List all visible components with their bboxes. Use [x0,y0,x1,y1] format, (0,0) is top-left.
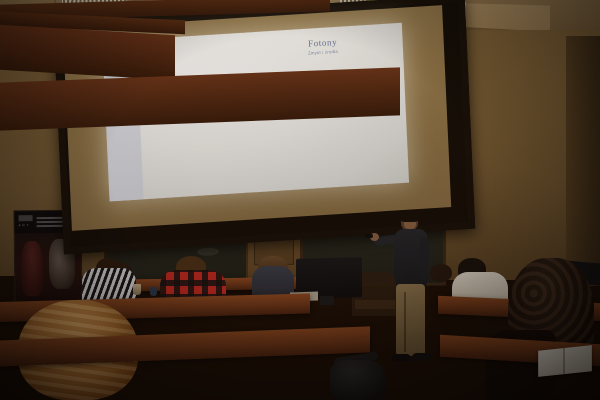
poster-logo-icon [19,215,33,221]
presenter-legs [396,284,425,356]
monitor-stand [320,296,334,305]
poster-figure-left [21,241,44,296]
presenter-leg-split [404,292,406,352]
presenter-arm-right [420,238,429,280]
presentation-remote-icon [365,234,373,238]
paper-cup [133,284,141,295]
open-notebook [538,345,592,377]
notebook-spine [563,348,565,374]
presenter-hair [399,210,420,222]
presenter [390,212,438,372]
right-wall-edge [566,36,600,286]
lecture-hall-photo: A R T Wydzial Fizyki, Astronomii i Infor… [0,0,600,400]
backpack [330,360,386,400]
presenter-shoe-right [412,353,431,361]
chair-seat [355,300,395,309]
presenter-shoe-left [392,354,411,362]
small-cup [150,287,157,296]
poster-caption: A R T [19,223,29,227]
student-far-right [430,264,452,282]
